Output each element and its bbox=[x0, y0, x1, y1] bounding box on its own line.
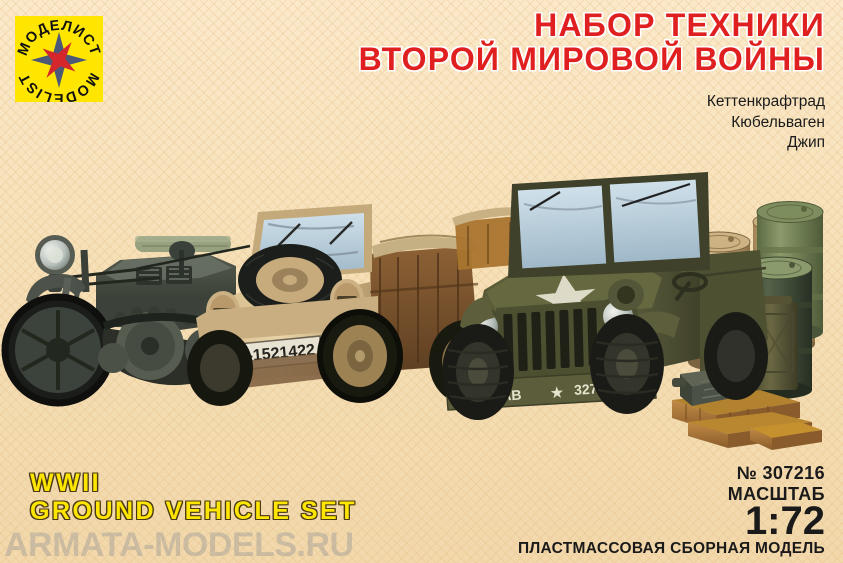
logo-graphic: МОДЕЛИСТ MODELIST bbox=[15, 16, 103, 102]
jeep-wheel-front-right bbox=[590, 314, 664, 414]
page-title: НАБОР ТЕХНИКИ ВТОРОЙ МИРОВОЙ ВОЙНЫ bbox=[359, 8, 825, 76]
kubelwagen-wheel-front bbox=[320, 312, 400, 400]
jeep-vehicle: IOI-AB ★ 327-I bbox=[442, 172, 768, 420]
jeep-bumper-star-text: ★ bbox=[549, 385, 564, 403]
kettenkrad-front-wheel bbox=[5, 297, 111, 403]
site-watermark: ARMATA-MODELS.RU bbox=[4, 526, 354, 563]
scale-value: 1:72 bbox=[745, 500, 825, 542]
vehicle-name-0: Кеттенкрафтрад bbox=[707, 92, 825, 113]
english-title-line-2: GROUND VEHICLE SET bbox=[30, 497, 357, 526]
english-title: WWII GROUND VEHICLE SET bbox=[30, 470, 357, 526]
box-artwork: WL-1521422 bbox=[0, 150, 843, 460]
title-line-1: НАБОР ТЕХНИКИ bbox=[359, 8, 825, 42]
jeep-wheel-front-left bbox=[442, 324, 514, 420]
vehicle-name-list: Кеттенкрафтрад Кюбельваген Джип bbox=[707, 92, 825, 154]
vehicle-name-1: Кюбельваген bbox=[707, 113, 825, 134]
jeep-glass-left bbox=[518, 186, 606, 269]
jeep-blackout-light bbox=[608, 279, 644, 311]
jeep-wheel-rear bbox=[704, 312, 768, 400]
jeep-glass-right bbox=[610, 180, 700, 263]
modelist-logo[interactable]: МОДЕЛИСТ MODELIST bbox=[15, 16, 103, 102]
model-type-label: ПЛАСТМАССОВАЯ СБОРНАЯ МОДЕЛЬ bbox=[518, 540, 825, 558]
english-title-line-1: WWII bbox=[30, 470, 357, 497]
article-number: № 307216 bbox=[737, 463, 825, 484]
box-art-page: МОДЕЛИСТ MODELIST НАБОР ТЕХНИКИ ВТОРОЙ М… bbox=[0, 0, 843, 563]
kubelwagen-wheel-left bbox=[187, 330, 253, 406]
title-line-2: ВТОРОЙ МИРОВОЙ ВОЙНЫ bbox=[359, 42, 825, 76]
